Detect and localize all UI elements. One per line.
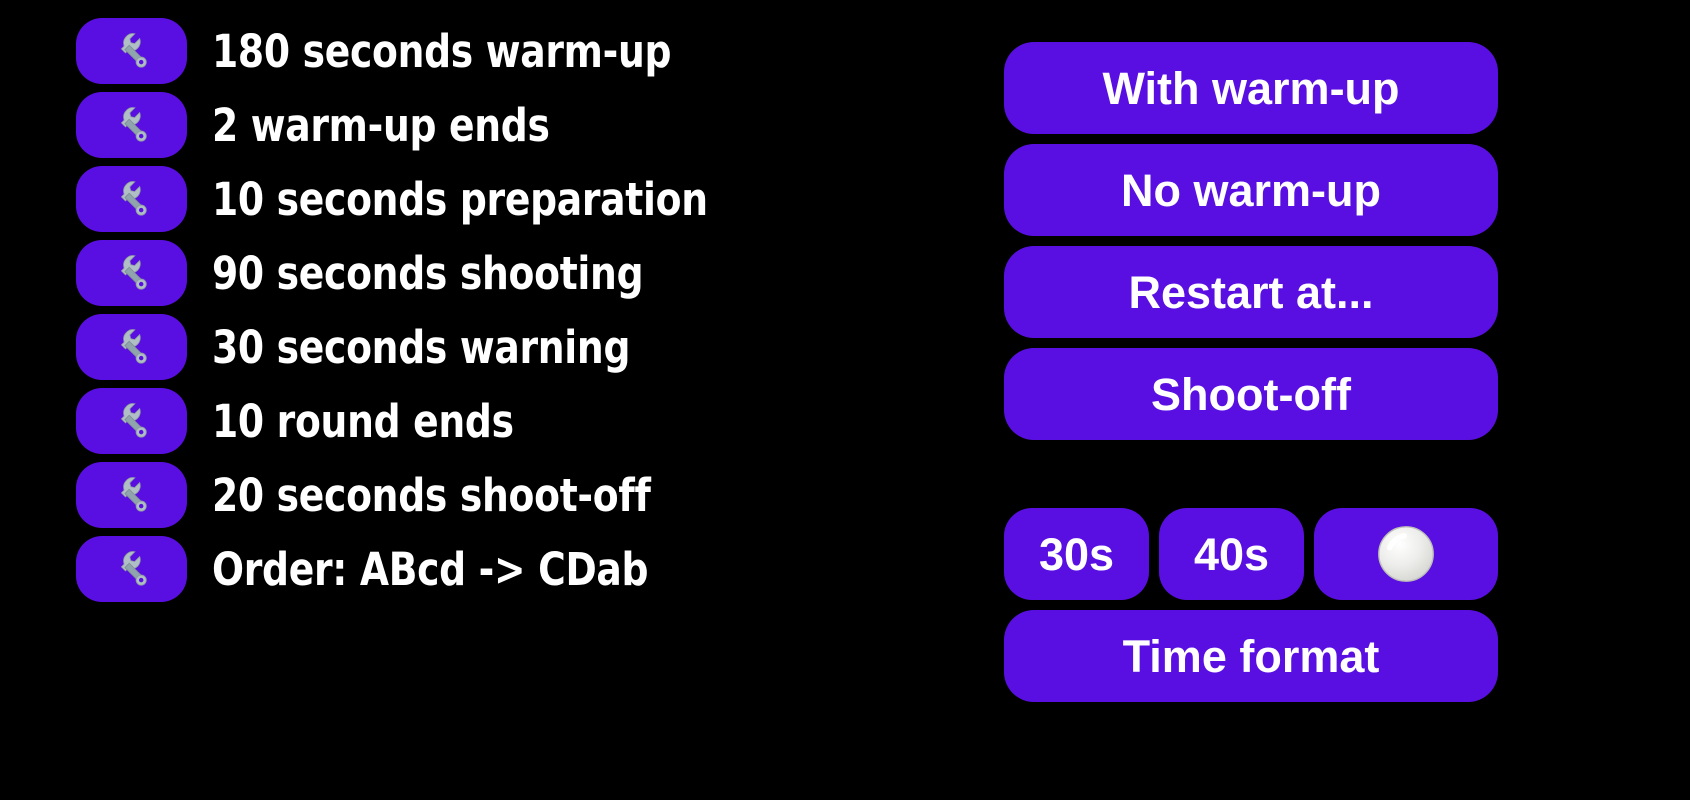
no-warmup-button[interactable]: No warm-up [1004,144,1498,236]
setting-label: 30 seconds warning [212,325,630,370]
setting-wrench-button-2[interactable] [76,166,187,232]
setting-wrench-button-3[interactable] [76,240,187,306]
wrench-icon [109,176,155,222]
with-warmup-button[interactable]: With warm-up [1004,42,1498,134]
setting-row: 10 round ends [0,384,960,458]
app-root: 180 seconds warm-up 2 warm-up ends [0,0,1690,800]
setting-row: 30 seconds warning [0,310,960,384]
setting-wrench-button-5[interactable] [76,388,187,454]
duration-40s-button[interactable]: 40s [1159,508,1304,600]
setting-label: 180 seconds warm-up [212,29,671,74]
wrench-icon [109,472,155,518]
setting-row: 20 seconds shoot-off [0,458,960,532]
time-format-button[interactable]: Time format [1004,610,1498,702]
setting-wrench-button-0[interactable] [76,18,187,84]
settings-list: 180 seconds warm-up 2 warm-up ends [0,0,960,800]
setting-wrench-button-4[interactable] [76,314,187,380]
wrench-icon [109,324,155,370]
setting-wrench-button-7[interactable] [76,536,187,602]
setting-label: 10 round ends [212,399,514,444]
setting-label: 10 seconds preparation [212,177,708,222]
shoot-off-button[interactable]: Shoot-off [1004,348,1498,440]
setting-label: Order: ABcd -> CDab [212,547,648,592]
setting-row: 180 seconds warm-up [0,14,960,88]
setting-row: Order: ABcd -> CDab [0,532,960,606]
sound-toggle-button[interactable] [1314,508,1498,600]
actions-panel: With warm-up No warm-up Restart at... Sh… [1004,0,1498,800]
setting-row: 10 seconds preparation [0,162,960,236]
wrench-icon [109,398,155,444]
wrench-icon [109,102,155,148]
wrench-icon [109,28,155,74]
setting-label: 20 seconds shoot-off [212,473,651,518]
wrench-icon [109,546,155,592]
setting-label: 90 seconds shooting [212,251,643,296]
setting-row: 90 seconds shooting [0,236,960,310]
setting-wrench-button-6[interactable] [76,462,187,528]
restart-at-button[interactable]: Restart at... [1004,246,1498,338]
wrench-icon [109,250,155,296]
setting-row: 2 warm-up ends [0,88,960,162]
duration-30s-button[interactable]: 30s [1004,508,1149,600]
setting-wrench-button-1[interactable] [76,92,187,158]
setting-label: 2 warm-up ends [212,103,550,148]
white-circle-icon [1377,525,1435,583]
